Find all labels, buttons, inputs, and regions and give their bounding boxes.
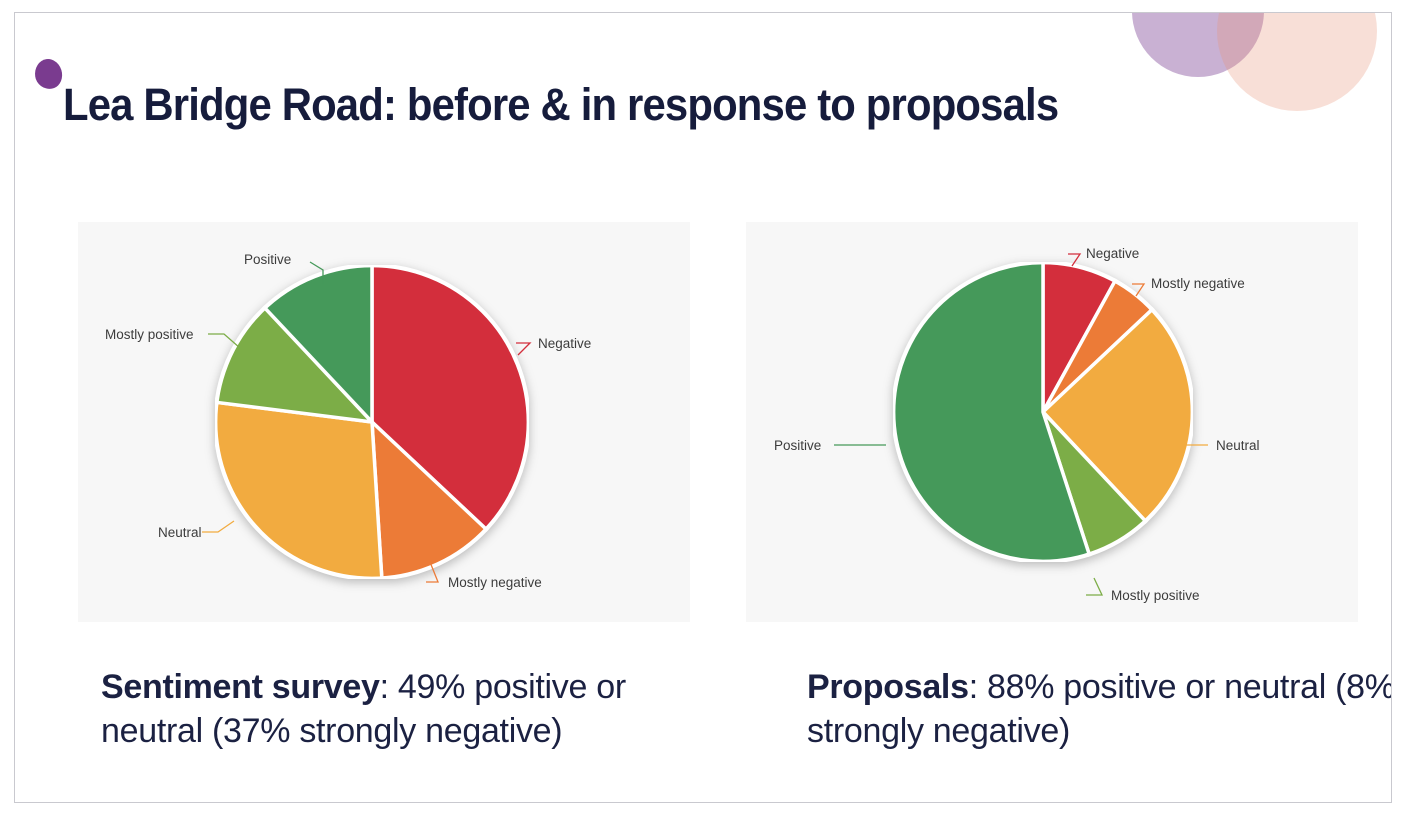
caption-proposals: Proposals: 88% positive or neutral (8% s…: [807, 666, 1392, 753]
pie-label-mostly-positive: Mostly positive: [1111, 588, 1200, 603]
slide: Lea Bridge Road: before & in response to…: [0, 0, 1406, 816]
pie-chart-proposals[interactable]: [893, 262, 1193, 562]
pie-label-mostly-negative: Mostly negative: [448, 575, 542, 590]
pie-label-mostly-negative: Mostly negative: [1151, 276, 1245, 291]
pie-label-positive: Positive: [244, 252, 291, 267]
pie-label-neutral: Neutral: [1216, 438, 1260, 453]
pie-label-positive: Positive: [774, 438, 821, 453]
pie-label-neutral: Neutral: [158, 525, 202, 540]
leader-line: [1086, 578, 1102, 595]
caption-sentiment-survey: Sentiment survey: 49% positive or neutra…: [101, 666, 701, 753]
page-title: Lea Bridge Road: before & in response to…: [63, 79, 1058, 131]
pie-label-mostly-positive: Mostly positive: [105, 327, 194, 342]
pie-slice[interactable]: [215, 402, 382, 579]
pie-label-negative: Negative: [1086, 246, 1139, 261]
peach-circle-decoration: [1217, 12, 1377, 111]
purple-dot-icon: [33, 57, 64, 90]
chart-panel-proposals: NegativeMostly negativeNeutralMostly pos…: [746, 222, 1358, 622]
slide-frame: Lea Bridge Road: before & in response to…: [14, 12, 1392, 803]
caption-right-bold: Proposals: [807, 668, 969, 706]
pie-label-negative: Negative: [538, 336, 591, 351]
caption-left-bold: Sentiment survey: [101, 668, 380, 706]
chart-panel-sentiment-survey: PositiveMostly positiveNeutralMostly neg…: [78, 222, 690, 622]
pie-chart-sentiment-survey[interactable]: [215, 265, 529, 579]
